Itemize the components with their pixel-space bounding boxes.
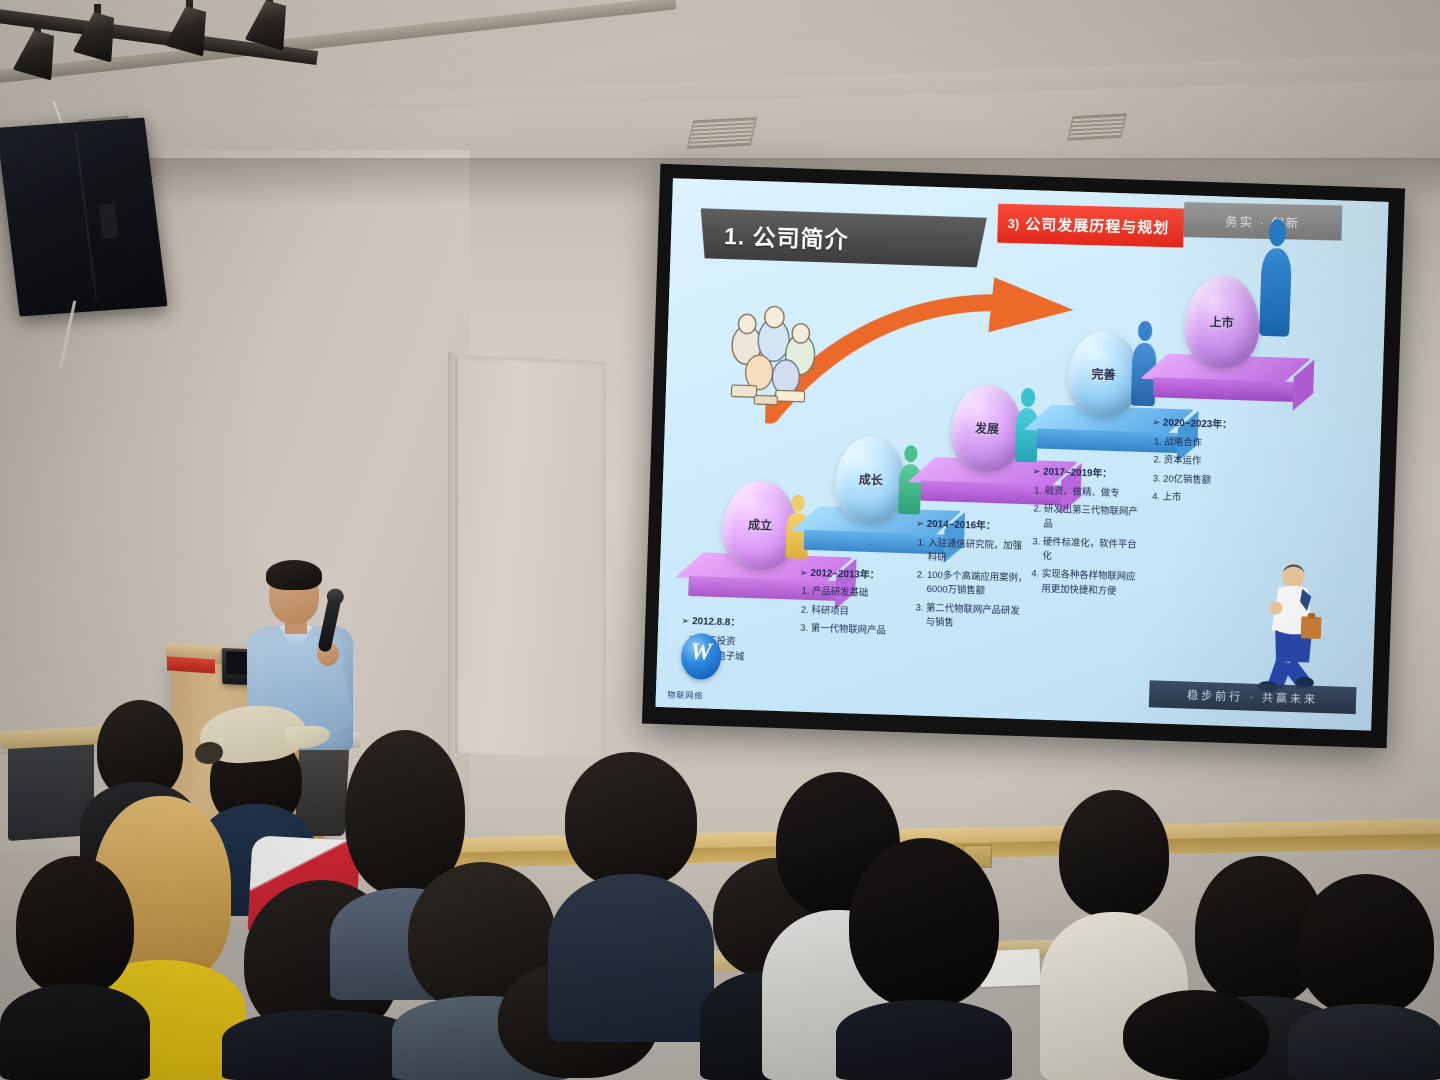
wall-speaker [0, 118, 167, 317]
timeline-list-4: 融资、做精、做专 研发出第三代物联网产品 硬件标准化，软件平台化 实现各种各样物… [1028, 483, 1139, 599]
timeline-block-3: ➢ 2014~2016年： 入驻通信研究院，加强科研 100多个高端应用案例，6… [912, 517, 1030, 636]
slide-section-number: 3) [1007, 216, 1019, 231]
stage-person-5 [1259, 219, 1293, 336]
timeline-item: 入驻通信研究院，加强科研 [928, 535, 1030, 567]
timeline-block-5: ➢ 2020~2023年： 战略合作 资本运作 20亿销售额 上市 [1149, 416, 1259, 511]
timeline-year-3: ➢ 2014~2016年： [916, 517, 1031, 536]
audience-member [1106, 990, 1286, 1080]
timeline-item: 100多个高端应用案例，6000万销售额 [926, 568, 1028, 600]
logo-caption: 物联网络 [667, 689, 703, 701]
timeline-year-2: ➢ 2012~2013年： [799, 566, 910, 585]
timeline-item: 第一代物联网产品 [811, 621, 909, 639]
slide-title: 1. 公司简介 [724, 217, 850, 255]
timeline-block-4: ➢ 2017~2019年： 融资、做精、做专 研发出第三代物联网产品 硬件标准化… [1028, 465, 1140, 602]
presentation-slide: 1. 公司简介 3) 公司发展历程与规划 务实 · 创新 [655, 178, 1388, 730]
group-illustration [712, 301, 837, 411]
slide-title-bar: 1. 公司简介 [699, 208, 987, 268]
slide-footer-text: 稳步前行 · 共赢未来 [1187, 687, 1318, 707]
projector-screen: 1. 公司简介 3) 公司发展历程与规划 务实 · 创新 [655, 178, 1388, 730]
slide-section-title: 公司发展历程与规划 [1025, 213, 1170, 238]
air-vent-icon [1067, 113, 1127, 140]
timeline-item: 融资、做精、做专 [1044, 484, 1139, 501]
track-light-icon [78, 4, 118, 58]
timeline-item: 上市 [1162, 490, 1257, 507]
audience-member [1288, 874, 1440, 1080]
climbing-businessman-illustration [1250, 560, 1333, 700]
timeline-item: 研发出第三代物联网产品 [1043, 502, 1138, 534]
company-logo-icon: W [680, 633, 722, 680]
timeline-block-2: ➢ 2012~2013年： 产品研发基础 科研项目 第一代物联网产品 [797, 566, 910, 642]
timeline-item: 资本运作 [1164, 453, 1259, 470]
stage-label-5: 上市 [1209, 313, 1234, 331]
timeline-list-2: 产品研发基础 科研项目 第一代物联网产品 [798, 584, 911, 639]
air-vent-icon [687, 117, 757, 149]
stage-label-2: 成长 [858, 471, 883, 489]
stage-orb-2: 成长 [834, 435, 908, 525]
timeline-item: 产品研发基础 [812, 584, 910, 602]
stage-label-3: 发展 [975, 419, 1000, 437]
timeline-item: 科研项目 [811, 603, 909, 621]
timeline-item: 实现各种各样物联网应用更加快捷和方便 [1041, 567, 1136, 599]
timeline-year-5: ➢ 2020~2023年： [1152, 416, 1260, 434]
timeline-item: 硬件标准化，软件平台化 [1042, 535, 1137, 567]
track-light-icon [170, 0, 210, 52]
timeline-item: 战略合作 [1164, 435, 1259, 452]
stage-orb-5: 上市 [1183, 275, 1261, 370]
logo-letter: W [680, 639, 721, 667]
audience-member [0, 856, 150, 1080]
timeline-list-3: 入驻通信研究院，加强科研 100多个高端应用案例，6000万销售额 第二代物联网… [912, 535, 1030, 633]
stage-label-1: 成立 [748, 516, 773, 534]
lecture-hall-photo: 1. 公司简介 3) 公司发展历程与规划 务实 · 创新 [0, 0, 1440, 1080]
timeline-year-1: ➢ 2012.8.8： [681, 615, 796, 634]
timeline-item: 第二代物联网产品研发与销售 [925, 601, 1027, 633]
audience-member [548, 752, 714, 1042]
track-light-icon [250, 0, 290, 46]
timeline-item: 20亿销售额 [1163, 471, 1258, 488]
audience-member [836, 838, 1012, 1080]
timeline-year-4: ➢ 2017~2019年： [1032, 465, 1140, 483]
slide-footer-banner: 稳步前行 · 共赢未来 [1148, 680, 1356, 714]
track-light-icon [18, 22, 58, 76]
door[interactable] [455, 355, 606, 759]
projector-screen-frame: 1. 公司简介 3) 公司发展历程与规划 务实 · 创新 [642, 164, 1405, 748]
stage-label-4: 完善 [1091, 365, 1116, 383]
timeline-list-5: 战略合作 资本运作 20亿销售额 上市 [1149, 434, 1259, 507]
slide-section-tab: 3) 公司发展历程与规划 [997, 203, 1184, 247]
